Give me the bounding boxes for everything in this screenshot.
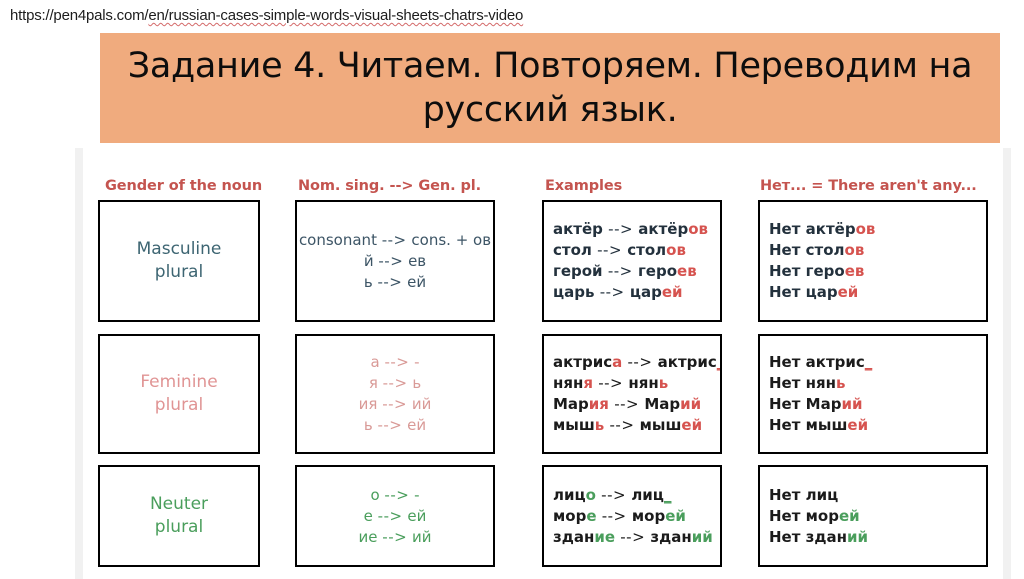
rule-from: ь: [364, 416, 373, 434]
arrow-icon: -->: [378, 252, 403, 270]
cell-gender-feminine: Feminine plural: [98, 334, 260, 454]
rule-from: я: [369, 374, 378, 392]
negation-prefix: Нет актёр: [769, 220, 856, 238]
cell-gender-masculine: Masculine plural: [98, 200, 260, 322]
example-stem: цар: [630, 283, 662, 301]
rules-list-neuter: о --> - е --> ей ие --> ий: [297, 485, 493, 548]
example-singular-ending: а: [612, 353, 622, 371]
arrow-icon: -->: [382, 395, 407, 413]
negation-list-masculine: Нет актёров Нет столов Нет героев Нет ца…: [760, 219, 875, 303]
rule-to: ий: [412, 395, 432, 413]
negation-ending: ей: [847, 416, 868, 434]
rule-to: -: [414, 353, 419, 371]
example-singular-ending: ия: [589, 395, 609, 413]
example-singular: царь: [553, 283, 594, 301]
rule-from: ь: [364, 273, 373, 291]
rule-to: ь: [412, 374, 421, 392]
gender-label-masculine: Masculine plural: [100, 238, 258, 284]
arrow-icon: -->: [378, 507, 403, 525]
example-ending: _: [664, 486, 672, 504]
arrow-icon: -->: [384, 353, 409, 371]
example-stem: стол: [627, 241, 666, 259]
example-ending: ь: [659, 374, 669, 392]
example-singular: здан: [553, 528, 594, 546]
rule-to: ей: [407, 507, 426, 525]
rule-from: е: [364, 507, 373, 525]
example-stem: мыш: [640, 416, 682, 434]
slide-page: https://pen4pals.com/en/russian-cases-si…: [0, 0, 1024, 579]
negation-ending: ов: [845, 241, 865, 259]
negation-ending: ей: [838, 283, 859, 301]
negation-prefix: Нет здан: [769, 528, 847, 546]
example-ending: ей: [665, 507, 686, 525]
example-ending: ев: [677, 262, 697, 280]
cell-negation-neuter: Нет лиц Нет морей Нет зданий: [758, 465, 988, 567]
rules-list-feminine: а --> - я --> ь ия --> ий ь --> ей: [297, 352, 493, 436]
example-stem: Мар: [644, 395, 680, 413]
example-stem: здан: [650, 528, 691, 546]
cell-examples-masculine: актёр --> актёров стол --> столов герой …: [542, 200, 722, 322]
negation-prefix: Нет мор: [769, 507, 839, 525]
column-header-examples: Examples: [545, 178, 622, 194]
example-ending: ий: [692, 528, 713, 546]
rule-to: ий: [412, 528, 432, 546]
rule-from: consonant: [299, 231, 377, 249]
arrow-icon: -->: [614, 395, 639, 413]
rules-list-masculine: consonant --> cons. + ов й --> ев ь --> …: [297, 230, 493, 293]
example-ending: ей: [662, 283, 683, 301]
arrow-icon: -->: [600, 283, 625, 301]
example-singular: актёр: [553, 220, 603, 238]
examples-list-masculine: актёр --> актёров стол --> столов герой …: [544, 219, 708, 303]
negation-ending: ий: [847, 528, 868, 546]
example-stem: лиц: [631, 486, 664, 504]
example-singular: нян: [553, 374, 583, 392]
rule-from: а: [370, 353, 379, 371]
rule-from: й: [364, 252, 374, 270]
arrow-icon: -->: [608, 220, 633, 238]
example-stem: актрис: [658, 353, 717, 371]
title-banner: Задание 4. Читаем. Повторяем. Переводим …: [100, 33, 1000, 143]
arrow-icon: -->: [601, 486, 626, 504]
cell-rules-neuter: о --> - е --> ей ие --> ий: [295, 465, 495, 567]
url-prefix: https://pen4pals.com/: [10, 7, 148, 24]
examples-list-neuter: лицо --> лиц_ море --> морей здание --> …: [544, 485, 713, 548]
example-stem: нян: [628, 374, 658, 392]
example-singular-ending: ие: [594, 528, 615, 546]
arrow-icon: -->: [598, 374, 623, 392]
example-singular: герой: [553, 262, 603, 280]
arrow-icon: -->: [377, 273, 402, 291]
arrow-icon: -->: [383, 374, 408, 392]
negation-ending: ь: [836, 374, 846, 392]
gender-line-2: plural: [155, 517, 203, 537]
rule-to: ей: [407, 416, 426, 434]
cell-negation-masculine: Нет актёров Нет столов Нет героев Нет ца…: [758, 200, 988, 322]
examples-list-feminine: актриса --> актрис_ няня --> нянь Мария …: [544, 352, 722, 436]
page-title: Задание 4. Читаем. Повторяем. Переводим …: [114, 44, 986, 132]
rule-from: ие: [359, 528, 378, 546]
example-stem: актёр: [638, 220, 688, 238]
cell-gender-neuter: Neuter plural: [98, 465, 260, 567]
example-ending: _: [717, 353, 722, 371]
arrow-icon: -->: [384, 486, 409, 504]
example-singular-ending: о: [586, 486, 596, 504]
column-header-negation: Нет... = There aren't any...: [760, 178, 977, 194]
arrow-icon: -->: [597, 241, 622, 259]
rule-to: ев: [408, 252, 426, 270]
negation-prefix: Нет Мар: [769, 395, 841, 413]
arrow-icon: -->: [608, 262, 633, 280]
negation-prefix: Нет геро: [769, 262, 845, 280]
arrow-icon: -->: [610, 416, 635, 434]
cell-examples-neuter: лицо --> лиц_ море --> морей здание --> …: [542, 465, 722, 567]
gender-line-1: Masculine: [137, 239, 222, 259]
url-link[interactable]: en/russian-cases-simple-words-visual-she…: [148, 7, 523, 24]
example-singular-ending: е: [586, 507, 596, 525]
gender-line-1: Feminine: [140, 372, 217, 392]
example-ending: ов: [688, 220, 708, 238]
example-stem: геро: [638, 262, 677, 280]
example-singular-ending: ь: [595, 416, 605, 434]
example-ending: ов: [666, 241, 686, 259]
slide-canvas: Задание 4. Читаем. Повторяем. Переводим …: [0, 30, 1024, 579]
gender-line-2: plural: [155, 262, 203, 282]
example-singular: актрис: [553, 353, 612, 371]
negation-prefix: Нет нян: [769, 374, 836, 392]
negation-ending: _: [865, 353, 873, 371]
rule-to: ей: [407, 273, 426, 291]
negation-list-feminine: Нет актрис_ Нет нянь Нет Марий Нет мышей: [760, 352, 872, 436]
url-bar[interactable]: https://pen4pals.com/en/russian-cases-si…: [10, 4, 1014, 28]
cell-rules-feminine: а --> - я --> ь ия --> ий ь --> ей: [295, 334, 495, 454]
arrow-icon: -->: [602, 507, 627, 525]
example-stem: мор: [632, 507, 665, 525]
column-header-gender: Gender of the noun: [105, 178, 262, 194]
cell-examples-feminine: актриса --> актрис_ няня --> нянь Мария …: [542, 334, 722, 454]
example-singular: стол: [553, 241, 592, 259]
negation-ending: ий: [841, 395, 862, 413]
gender-label-feminine: Feminine plural: [100, 371, 258, 417]
negation-list-neuter: Нет лиц Нет морей Нет зданий: [760, 485, 868, 548]
negation-prefix: Нет актрис: [769, 353, 865, 371]
negation-prefix: Нет лиц: [769, 486, 838, 504]
arrow-icon: -->: [620, 528, 645, 546]
gender-label-neuter: Neuter plural: [100, 493, 258, 539]
column-header-declension: Nom. sing. --> Gen. pl.: [298, 178, 481, 194]
example-singular: мыш: [553, 416, 595, 434]
table-sheet: Gender of the noun Nom. sing. --> Gen. p…: [70, 148, 1015, 579]
arrow-icon: -->: [382, 231, 407, 249]
example-singular: мор: [553, 507, 586, 525]
negation-ending: ов: [856, 220, 876, 238]
gender-line-1: Neuter: [150, 494, 208, 514]
example-ending: ей: [681, 416, 702, 434]
example-singular: лиц: [553, 486, 586, 504]
arrow-icon: -->: [377, 416, 402, 434]
example-ending: ий: [680, 395, 701, 413]
arrow-icon: -->: [382, 528, 407, 546]
negation-ending: ев: [845, 262, 865, 280]
rule-to: -: [414, 486, 419, 504]
negation-prefix: Нет цар: [769, 283, 838, 301]
rule-from: о: [370, 486, 379, 504]
arrow-icon: -->: [628, 353, 653, 371]
cell-negation-feminine: Нет актрис_ Нет нянь Нет Марий Нет мышей: [758, 334, 988, 454]
negation-prefix: Нет стол: [769, 241, 845, 259]
negation-ending: ей: [839, 507, 860, 525]
gender-line-2: plural: [155, 395, 203, 415]
cell-rules-masculine: consonant --> cons. + ов й --> ев ь --> …: [295, 200, 495, 322]
example-singular-ending: я: [583, 374, 593, 392]
rule-to: cons. + ов: [411, 231, 491, 249]
rule-from: ия: [359, 395, 378, 413]
example-singular: Мар: [553, 395, 589, 413]
rules-table: Gender of the noun Nom. sing. --> Gen. p…: [70, 148, 1015, 579]
negation-prefix: Нет мыш: [769, 416, 847, 434]
